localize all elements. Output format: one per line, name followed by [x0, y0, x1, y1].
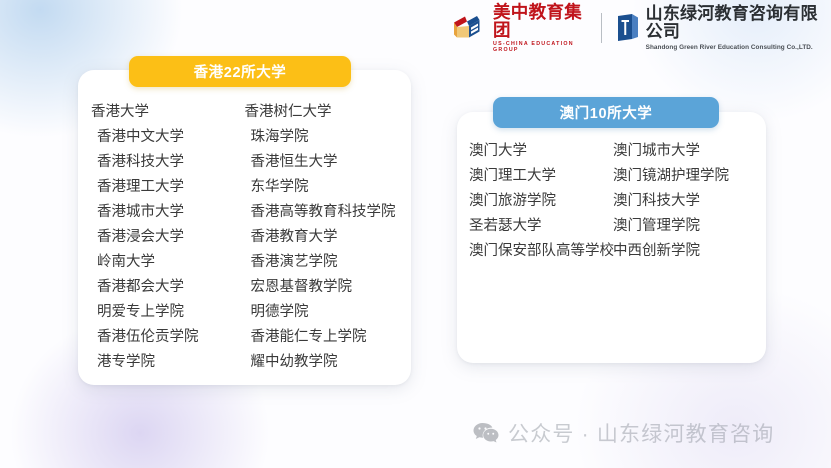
list-item: 澳门理工大学: [469, 164, 613, 189]
list-item: 宏恩基督教学院: [245, 275, 399, 300]
hongkong-right-column: 香港树仁大学 珠海学院 香港恒生大学 东华学院 香港高等教育科技学院 香港教育大…: [245, 100, 399, 375]
list-item: 香港伍伦贡学院: [91, 325, 245, 350]
list-item: 港专学院: [91, 350, 245, 375]
slide-canvas: 美中教育集团 US-CHINA EDUCATION GROUP 山东绿河教育咨询…: [0, 0, 831, 468]
macau-university-columns: 澳门大学 澳门理工大学 澳门旅游学院 圣若瑟大学 澳门保安部队高等学校 澳门城市…: [469, 139, 754, 264]
macau-right-column: 澳门城市大学 澳门镜湖护理学院 澳门科技大学 澳门管理学院 中西创新学院: [613, 139, 754, 264]
greenriver-text: 山东绿河教育咨询有限公司 Shandong Green River Educat…: [646, 5, 831, 52]
meizhong-book-logo-icon: [452, 12, 486, 44]
list-item: 中西创新学院: [613, 239, 754, 264]
greenriver-name-cn: 山东绿河教育咨询有限公司: [646, 5, 831, 42]
list-item: 澳门镜湖护理学院: [613, 164, 754, 189]
macau-card-title-badge: 澳门10所大学: [493, 97, 719, 128]
hongkong-universities-card: 香港大学 香港中文大学 香港科技大学 香港理工大学 香港城市大学 香港浸会大学 …: [78, 70, 411, 385]
list-item: 香港理工大学: [91, 175, 245, 200]
list-item: 香港高等教育科技学院: [245, 200, 399, 225]
hongkong-card-title-badge: 香港22所大学: [129, 56, 351, 87]
greenriver-name-en: Shandong Green River Education Consultin…: [646, 44, 831, 52]
wechat-icon: [473, 422, 499, 444]
list-item: 岭南大学: [91, 250, 245, 275]
meizhong-name-cn: 美中教育集团: [493, 3, 589, 40]
list-item: 东华学院: [245, 175, 399, 200]
list-item: 香港教育大学: [245, 225, 399, 250]
list-item: 澳门管理学院: [613, 214, 754, 239]
list-item: 香港科技大学: [91, 150, 245, 175]
hongkong-left-column: 香港大学 香港中文大学 香港科技大学 香港理工大学 香港城市大学 香港浸会大学 …: [91, 100, 245, 375]
list-item: 香港城市大学: [91, 200, 245, 225]
brand-divider: [601, 13, 602, 43]
list-item: 香港大学: [91, 100, 245, 125]
list-item: 珠海学院: [245, 125, 399, 150]
list-item: 香港中文大学: [91, 125, 245, 150]
list-item: 澳门城市大学: [613, 139, 754, 164]
list-item: 圣若瑟大学: [469, 214, 613, 239]
list-item: 香港都会大学: [91, 275, 245, 300]
list-item: 香港恒生大学: [245, 150, 399, 175]
list-item: 耀中幼教学院: [245, 350, 399, 375]
list-item: 澳门保安部队高等学校: [469, 239, 613, 264]
meizhong-brand: 美中教育集团 US-CHINA EDUCATION GROUP: [452, 3, 589, 53]
list-item: 澳门旅游学院: [469, 189, 613, 214]
green-river-book-logo-icon: [617, 13, 639, 43]
meizhong-text: 美中教育集团 US-CHINA EDUCATION GROUP: [493, 3, 589, 53]
list-item: 香港演艺学院: [245, 250, 399, 275]
macau-universities-card: 澳门大学 澳门理工大学 澳门旅游学院 圣若瑟大学 澳门保安部队高等学校 澳门城市…: [457, 112, 766, 363]
list-item: 明德学院: [245, 300, 399, 325]
list-item: 香港树仁大学: [245, 100, 399, 125]
watermark-text: 公众号 · 山东绿河教育咨询: [508, 418, 774, 448]
greenriver-brand: 山东绿河教育咨询有限公司 Shandong Green River Educat…: [617, 5, 831, 52]
list-item: 明爱专上学院: [91, 300, 245, 325]
list-item: 香港浸会大学: [91, 225, 245, 250]
list-item: 澳门大学: [469, 139, 613, 164]
meizhong-name-en: US-CHINA EDUCATION GROUP: [493, 41, 589, 54]
wechat-watermark: 公众号 · 山东绿河教育咨询: [473, 418, 774, 448]
macau-left-column: 澳门大学 澳门理工大学 澳门旅游学院 圣若瑟大学 澳门保安部队高等学校: [469, 139, 613, 264]
list-item: 香港能仁专上学院: [245, 325, 399, 350]
list-item: 澳门科技大学: [613, 189, 754, 214]
hongkong-university-columns: 香港大学 香港中文大学 香港科技大学 香港理工大学 香港城市大学 香港浸会大学 …: [91, 100, 398, 375]
brand-header: 美中教育集团 US-CHINA EDUCATION GROUP 山东绿河教育咨询…: [452, 7, 831, 49]
